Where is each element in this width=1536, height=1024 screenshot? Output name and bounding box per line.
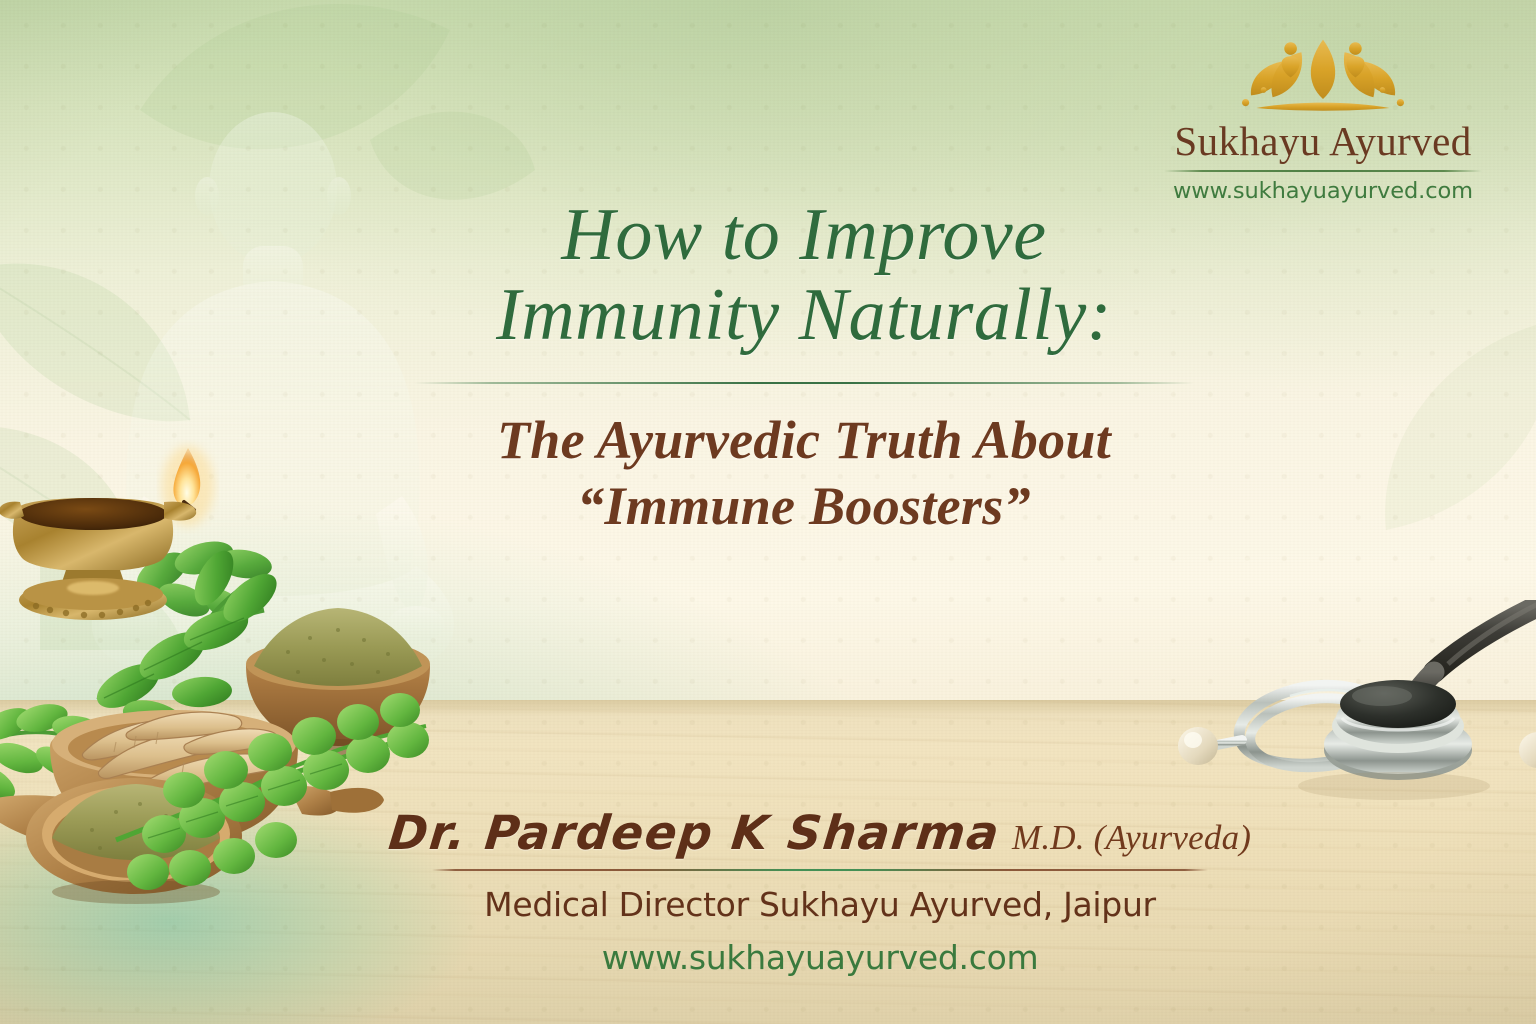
title-text-block: How to Improve Immunity Naturally: The A… [404, 196, 1204, 540]
background-leaf-watercolor-right [1276, 300, 1536, 620]
brand-name: Sukhayu Ayurved [1158, 120, 1488, 163]
title-slide: Sukhayu Ayurved www.sukhayuayurved.com H… [0, 0, 1536, 1024]
brand-logo[interactable]: Sukhayu Ayurved www.sukhayuayurved.com [1158, 26, 1488, 204]
title-divider [414, 382, 1194, 384]
stethoscope-chestpiece [1324, 680, 1472, 780]
subtitle-line-1: The Ayurvedic Truth About [404, 408, 1204, 474]
author-name-row: Dr. Pardeep K Sharma M.D. (Ayurveda) [430, 806, 1210, 861]
brand-website[interactable]: www.sukhayuayurved.com [1158, 178, 1488, 204]
ear-tip-right [1519, 732, 1536, 768]
logo-divider [1164, 170, 1482, 172]
page-title-line-2: Immunity Naturally: [404, 276, 1204, 356]
author-name: Dr. Pardeep K Sharma [386, 806, 1003, 861]
author-role: Medical Director Sukhayu Ayurved, Jaipur [430, 883, 1210, 927]
author-website[interactable]: www.sukhayuayurved.com [430, 937, 1210, 980]
author-block: Dr. Pardeep K Sharma M.D. (Ayurveda) Med… [430, 806, 1210, 980]
page-title-line-1: How to Improve [404, 196, 1204, 276]
subtitle-line-2: “Immune Boosters” [404, 474, 1204, 540]
wooden-spoon-herb-powder [0, 778, 242, 904]
author-degree: M.D. (Ayurveda) [1012, 818, 1251, 858]
lotus-flower-icon [1233, 26, 1413, 118]
author-divider [432, 869, 1208, 871]
